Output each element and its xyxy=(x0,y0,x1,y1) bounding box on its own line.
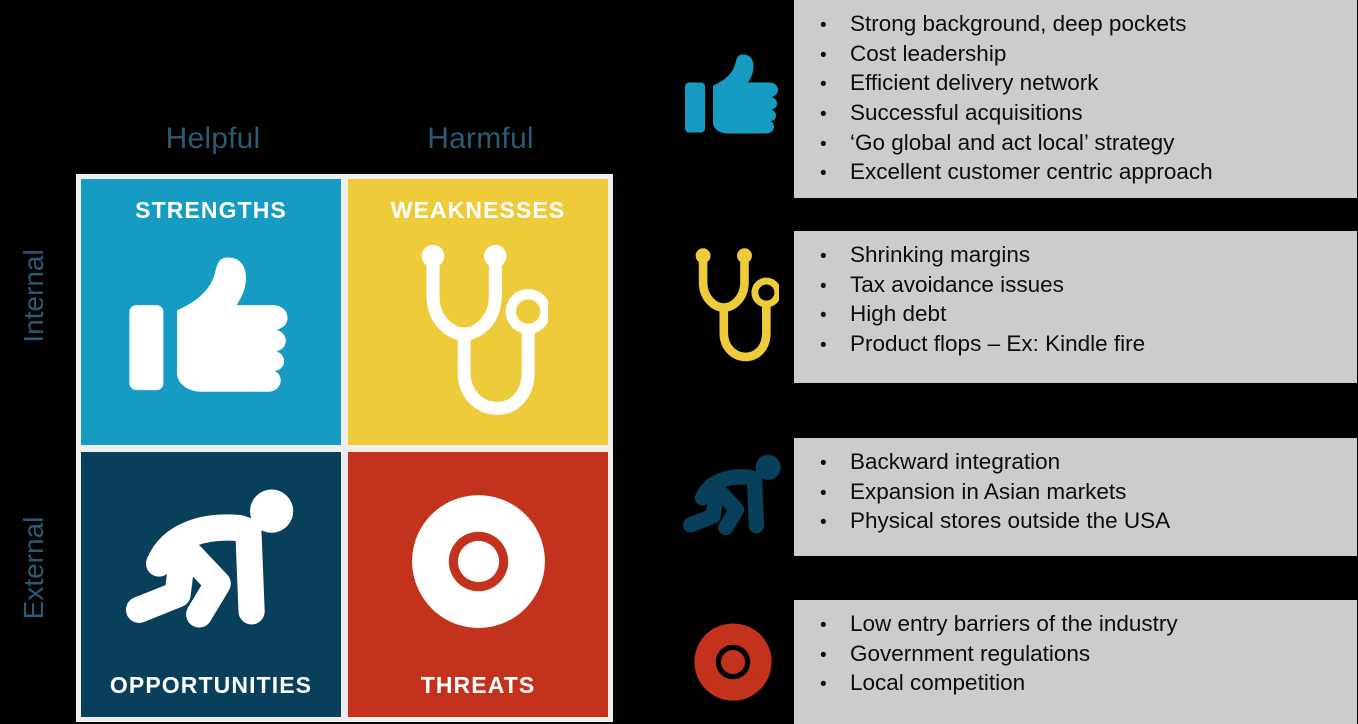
bullet-icon: • xyxy=(794,244,850,269)
list-item: • Successful acquisitions xyxy=(794,98,1357,128)
bullet-icon: • xyxy=(794,643,850,668)
panel-threats: • Low entry barriers of the industry • G… xyxy=(794,600,1357,724)
quadrant-opportunities[interactable]: OPPORTUNITIES xyxy=(81,452,341,718)
bullet-list-threats: • Low entry barriers of the industry • G… xyxy=(794,609,1357,698)
quadrant-title-opportunities: OPPORTUNITIES xyxy=(110,672,312,699)
list-item: • High debt xyxy=(794,299,1357,329)
radiation-icon xyxy=(348,452,608,673)
bullet-list-opportunities: • Backward integration • Expansion in As… xyxy=(794,447,1357,536)
list-item: • Government regulations xyxy=(794,639,1357,669)
thumbs-up-icon xyxy=(81,224,341,445)
list-item: • Expansion in Asian markets xyxy=(794,477,1357,507)
list-item: • ‘Go global and act local’ strategy xyxy=(794,128,1357,158)
list-item: • Shrinking margins xyxy=(794,240,1357,270)
detail-row-strengths: • Strong background, deep pockets • Cost… xyxy=(672,0,1357,198)
bullet-icon: • xyxy=(794,672,850,697)
list-item: • Cost leadership xyxy=(794,39,1357,69)
bullet-icon: • xyxy=(794,510,850,535)
list-item: • Efficient delivery network xyxy=(794,68,1357,98)
stethoscope-icon xyxy=(348,224,608,445)
list-item: • Local competition xyxy=(794,668,1357,698)
axis-label-harmful: Harmful xyxy=(348,122,613,156)
quadrant-weaknesses[interactable]: WEAKNESSES xyxy=(348,179,608,445)
list-item: • Low entry barriers of the industry xyxy=(794,609,1357,639)
bullet-icon: • xyxy=(794,43,850,68)
bullet-icon: • xyxy=(794,72,850,97)
quadrant-title-threats: THREATS xyxy=(421,672,536,699)
bullet-icon: • xyxy=(794,613,850,638)
bullet-icon: • xyxy=(794,132,850,157)
stethoscope-icon xyxy=(672,231,794,383)
axis-label-external: External xyxy=(18,478,50,658)
bullet-icon: • xyxy=(794,303,850,328)
quadrant-title-weaknesses: WEAKNESSES xyxy=(391,197,566,224)
bullet-icon: • xyxy=(794,481,850,506)
list-item: • Tax avoidance issues xyxy=(794,270,1357,300)
detail-row-threats: • Low entry barriers of the industry • G… xyxy=(672,600,1357,724)
bullet-icon: • xyxy=(794,102,850,127)
quadrant-title-strengths: STRENGTHS xyxy=(135,197,287,224)
radiation-icon xyxy=(672,600,794,724)
runner-icon xyxy=(81,452,341,673)
list-item: • Backward integration xyxy=(794,447,1357,477)
axis-label-helpful: Helpful xyxy=(78,122,348,156)
list-item: • Physical stores outside the USA xyxy=(794,506,1357,536)
runner-icon xyxy=(672,438,794,556)
quadrant-strengths[interactable]: STRENGTHS xyxy=(81,179,341,445)
quadrant-threats[interactable]: THREATS xyxy=(348,452,608,718)
swot-matrix: STRENGTHS WEAKNESSES xyxy=(76,174,613,722)
list-item: • Product flops – Ex: Kindle fire xyxy=(794,329,1357,359)
axis-label-internal: Internal xyxy=(18,206,50,386)
panel-opportunities: • Backward integration • Expansion in As… xyxy=(794,438,1357,556)
bullet-list-strengths: • Strong background, deep pockets • Cost… xyxy=(794,9,1357,187)
detail-row-opportunities: • Backward integration • Expansion in As… xyxy=(672,438,1357,556)
thumbs-up-icon xyxy=(672,0,794,198)
bullet-icon: • xyxy=(794,274,850,299)
panel-weaknesses: • Shrinking margins • Tax avoidance issu… xyxy=(794,231,1357,383)
detail-row-weaknesses: • Shrinking margins • Tax avoidance issu… xyxy=(672,231,1357,383)
list-item: • Strong background, deep pockets xyxy=(794,9,1357,39)
bullet-icon: • xyxy=(794,13,850,38)
bullet-icon: • xyxy=(794,451,850,476)
bullet-icon: • xyxy=(794,333,850,358)
list-item: • Excellent customer centric approach xyxy=(794,157,1357,187)
bullet-icon: • xyxy=(794,161,850,186)
bullet-list-weaknesses: • Shrinking margins • Tax avoidance issu… xyxy=(794,240,1357,359)
panel-strengths: • Strong background, deep pockets • Cost… xyxy=(794,0,1357,198)
swot-analysis-diagram: Helpful Harmful Internal External STRENG… xyxy=(0,0,1358,724)
